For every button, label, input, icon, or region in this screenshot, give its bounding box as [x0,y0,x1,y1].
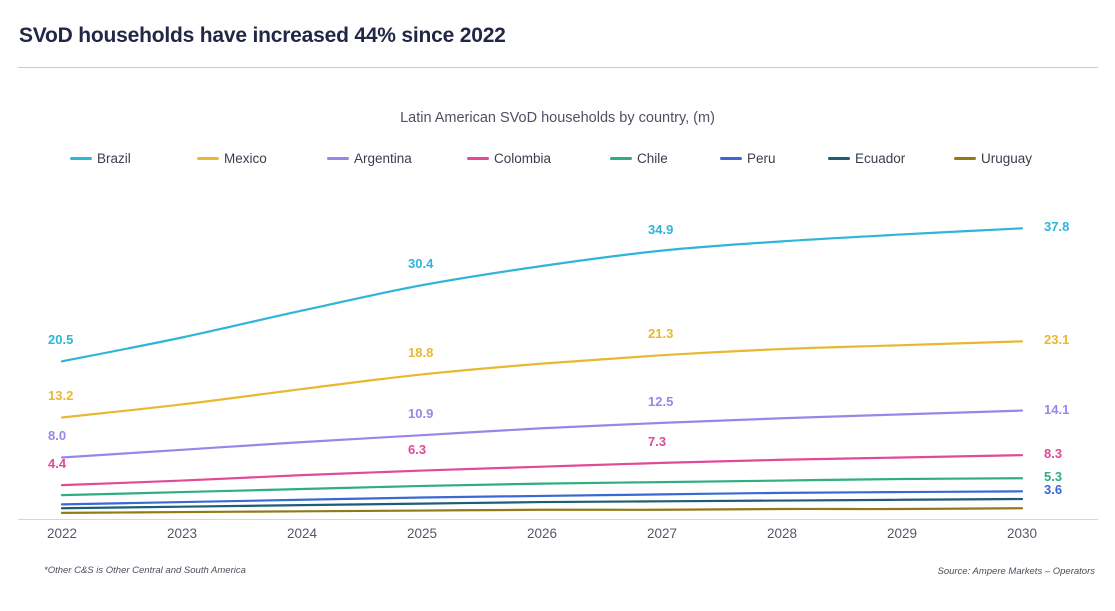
series-line-argentina [62,411,1022,458]
chart-legend: BrazilMexicoArgentinaColombiaChilePeruEc… [70,151,1080,171]
legend-item-argentina[interactable]: Argentina [327,151,412,166]
line-chart-svg [18,180,1098,520]
legend-swatch-icon [70,157,92,160]
data-label: 18.8 [408,345,433,360]
series-line-ecuador [62,499,1022,508]
data-label: 4.4 [48,456,66,471]
legend-item-label: Uruguay [981,151,1032,166]
x-axis-tick-label: 2022 [47,526,77,541]
page-title: SVoD households have increased 44% since… [19,24,506,48]
legend-swatch-icon [720,157,742,160]
legend-item-colombia[interactable]: Colombia [467,151,551,166]
x-axis-tick-labels: 202220232024202520262027202820292030 [18,526,1098,546]
legend-swatch-icon [610,157,632,160]
legend-item-label: Peru [747,151,776,166]
data-label: 14.1 [1044,402,1069,417]
x-axis-tick-label: 2024 [287,526,317,541]
x-axis-tick-label: 2027 [647,526,677,541]
data-label: 20.5 [48,332,73,347]
data-label: 21.3 [648,326,673,341]
legend-item-mexico[interactable]: Mexico [197,151,267,166]
legend-swatch-icon [197,157,219,160]
legend-item-label: Brazil [97,151,131,166]
chart-title: Latin American SVoD households by countr… [0,110,1115,126]
header-divider [18,67,1098,68]
legend-item-brazil[interactable]: Brazil [70,151,131,166]
legend-item-label: Ecuador [855,151,905,166]
data-label: 8.0 [48,428,66,443]
legend-item-chile[interactable]: Chile [610,151,668,166]
data-label: 3.6 [1044,482,1062,497]
x-axis-tick-label: 2025 [407,526,437,541]
x-axis-tick-label: 2028 [767,526,797,541]
legend-item-uruguay[interactable]: Uruguay [954,151,1032,166]
data-label: 34.9 [648,222,673,237]
data-label: 13.2 [48,388,73,403]
x-axis-tick-label: 2026 [527,526,557,541]
series-line-mexico [62,341,1022,417]
footnote-text: *Other C&S is Other Central and South Am… [44,565,246,576]
data-label: 30.4 [408,256,433,271]
legend-swatch-icon [327,157,349,160]
legend-item-label: Chile [637,151,668,166]
data-label: 37.8 [1044,219,1069,234]
series-line-brazil [62,228,1022,361]
data-label: 10.9 [408,406,433,421]
data-label: 8.3 [1044,446,1062,461]
slide-canvas: SVoD households have increased 44% since… [0,0,1115,611]
chart-plot-area [18,180,1098,520]
legend-item-label: Argentina [354,151,412,166]
legend-item-label: Mexico [224,151,267,166]
legend-item-peru[interactable]: Peru [720,151,776,166]
data-label: 6.3 [408,442,426,457]
x-axis-line [18,519,1098,520]
legend-item-label: Colombia [494,151,551,166]
legend-swatch-icon [467,157,489,160]
data-label: 23.1 [1044,332,1069,347]
data-label: 12.5 [648,394,673,409]
legend-swatch-icon [828,157,850,160]
x-axis-tick-label: 2030 [1007,526,1037,541]
data-label: 7.3 [648,434,666,449]
x-axis-tick-label: 2029 [887,526,917,541]
x-axis-tick-label: 2023 [167,526,197,541]
series-line-uruguay [62,508,1022,513]
series-line-colombia [62,455,1022,485]
legend-item-ecuador[interactable]: Ecuador [828,151,905,166]
legend-swatch-icon [954,157,976,160]
source-text: Source: Ampere Markets – Operators [937,566,1095,577]
